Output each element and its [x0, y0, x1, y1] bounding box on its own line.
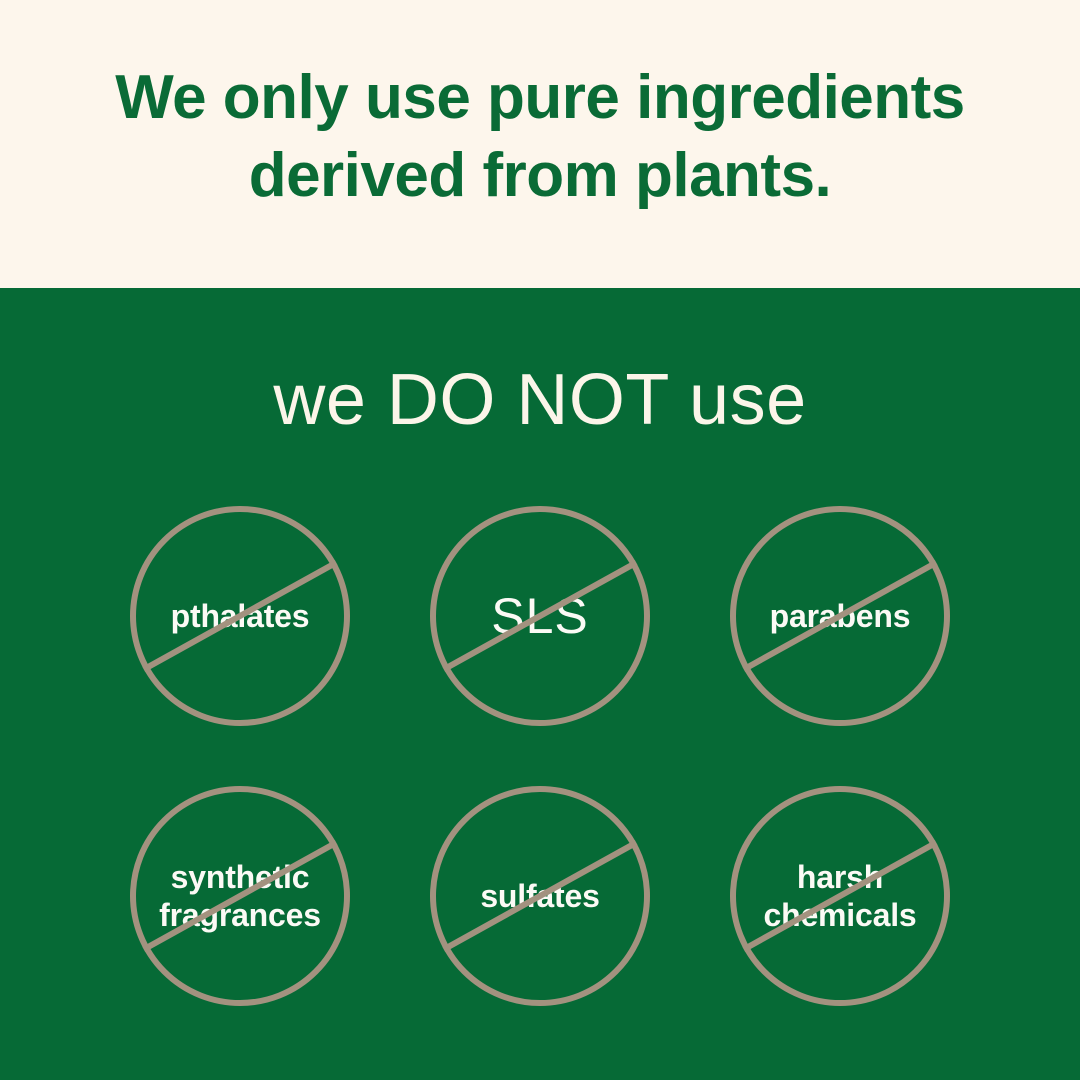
- badge-label-line: harsh: [764, 858, 917, 896]
- badge-pthalates: pthalates: [90, 476, 390, 756]
- badge-sulfates: sulfates: [390, 756, 690, 1036]
- badge-label-line: fragrances: [159, 896, 321, 934]
- section-heading: we DO NOT use: [0, 360, 1080, 440]
- badge-label-line: SLS: [491, 588, 589, 644]
- badge-label-sls: SLS: [491, 588, 589, 644]
- badge-label-line: pthalates: [171, 597, 310, 635]
- headline-line-2: derived from plants.: [249, 137, 832, 215]
- badge-label-harsh-chemicals: harshchemicals: [764, 858, 917, 934]
- badge-synthetic-fragrances: syntheticfragrances: [90, 756, 390, 1036]
- badge-harsh-chemicals: harshchemicals: [690, 756, 990, 1036]
- badge-label-synthetic-fragrances: syntheticfragrances: [159, 858, 321, 934]
- headline-banner: We only use pure ingredients derived fro…: [0, 0, 1080, 288]
- do-not-use-section: we DO NOT use pthalatesSLSparabenssynthe…: [0, 288, 1080, 1080]
- badge-label-line: parabens: [770, 597, 911, 635]
- poster-canvas: We only use pure ingredients derived fro…: [0, 0, 1080, 1080]
- badge-sls: SLS: [390, 476, 690, 756]
- badge-label-pthalates: pthalates: [171, 597, 310, 635]
- badge-label-line: synthetic: [159, 858, 321, 896]
- badge-label-line: chemicals: [764, 896, 917, 934]
- badge-label-sulfates: sulfates: [480, 877, 599, 915]
- badge-parabens: parabens: [690, 476, 990, 756]
- headline-line-1: We only use pure ingredients: [115, 59, 965, 137]
- prohibited-ingredients-grid: pthalatesSLSparabenssyntheticfragrancess…: [0, 476, 1080, 1036]
- badge-label-line: sulfates: [480, 877, 599, 915]
- badge-label-parabens: parabens: [770, 597, 911, 635]
